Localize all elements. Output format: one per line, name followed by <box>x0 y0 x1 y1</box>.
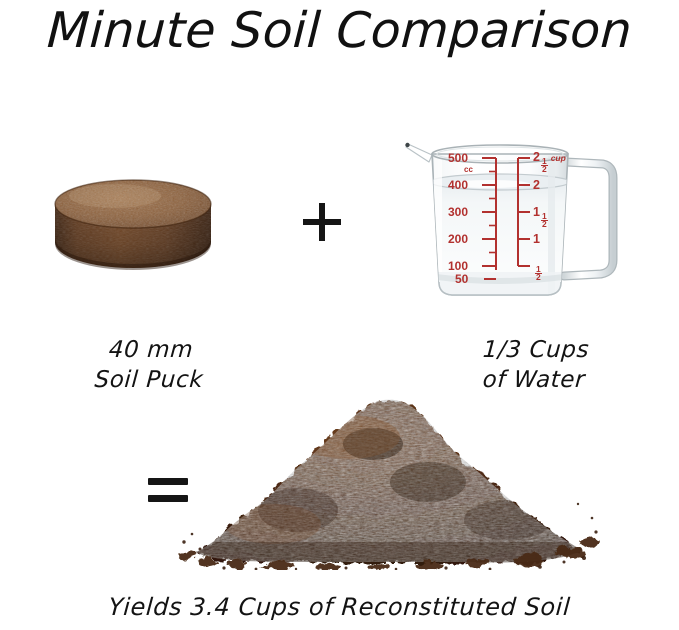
measuring-cup-image: 500 cc 400 300 200 100 50 212cup 2 112 1… <box>398 122 630 302</box>
page-title: Minute Soil Comparison <box>0 2 679 60</box>
yield-caption: Yields 3.4 Cups of Reconstituted Soil <box>0 592 679 622</box>
plus-operator-label: + <box>303 203 304 204</box>
plus-operator-icon: + <box>303 203 341 241</box>
soil-puck-image <box>53 178 213 278</box>
soil-puck-caption: 40 mm Soil Puck <box>38 335 262 395</box>
infographic-canvas: Minute Soil Comparison <box>0 0 679 630</box>
soil-pile-image <box>178 392 602 570</box>
water-caption: 1/3 Cups of Water <box>418 335 652 395</box>
